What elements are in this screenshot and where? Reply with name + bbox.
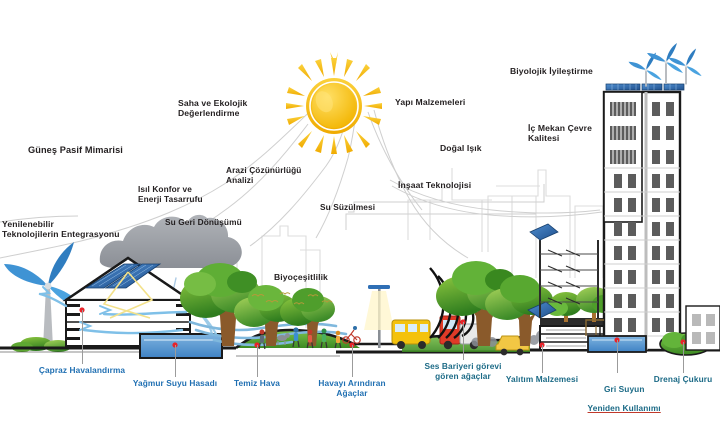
label-yagmur-suyu-hasadi: Yağmur Suyu Hasadı xyxy=(133,379,217,389)
small-houses xyxy=(686,306,720,350)
label-su-suzulmesi: Su Süzülmesi xyxy=(320,203,375,213)
label-gri-suyun-yeniden-kullanimi: Gri Suyun Yeniden Kullanımı xyxy=(573,375,660,424)
street-lamp-icon xyxy=(364,285,394,348)
label-yapi-malzemeleri: Yapı Malzemeleri xyxy=(395,97,465,107)
label-gri-suyun-line1: Gri Suyun xyxy=(604,384,645,394)
tower-roof-solar-panels xyxy=(606,84,684,90)
label-dogal-isik: Doğal Işık xyxy=(440,143,482,153)
label-saha-ve-ekolojik-degerlendirme: Saha ve Ekolojik Değerlendirme xyxy=(178,98,247,118)
label-su-geri-donusumu: Su Geri Dönüşümü xyxy=(165,218,242,228)
leader-line-drenaj-cukuru xyxy=(683,342,684,373)
label-temiz-hava: Temiz Hava xyxy=(234,379,280,389)
leader-line-gri-suyun-yeniden-kullanimi xyxy=(617,340,618,373)
apartment-tower xyxy=(604,43,702,350)
label-yenilenebilir-teknolojilerin-entegrasyonu: Yenilenebilir Teknolojilerin Entegrasyon… xyxy=(2,219,120,239)
label-arazi-cozunurlugu-analizi: Arazi Çözünürlüğü Analizi xyxy=(226,166,301,186)
label-insaat-teknolojisi: İnşaat Teknolojisi xyxy=(398,180,471,190)
rainwater-basin xyxy=(140,334,222,358)
label-gunes-pasif-mimarisi: Güneş Pasif Mimarisi xyxy=(28,145,123,156)
label-gri-suyun-line2: Yeniden Kullanımı xyxy=(588,403,661,413)
label-drenaj-cukuru: Drenaj Çukuru xyxy=(654,375,712,385)
leader-line-capraz-havalandirma xyxy=(82,310,83,364)
infographic-canvas: Güneş Pasif Mimarisi Yenilenebilir Tekno… xyxy=(0,0,720,427)
label-ses-bariyeri-gorevi-goren-agaclar: Ses Bariyeri görevi gören ağaçlar xyxy=(424,362,501,382)
label-yalitim-malzemesi: Yalıtım Malzemesi xyxy=(506,375,578,385)
sun-icon xyxy=(286,52,382,154)
leader-line-havayi-arindiran-agaclar xyxy=(352,345,353,377)
scene-illustration xyxy=(0,0,720,427)
roof-wind-turbines xyxy=(629,43,702,87)
leader-line-yagmur-suyu-hasadi xyxy=(175,345,176,377)
label-havayi-arindiran-agaclar: Havayı Arındıran Ağaçlar xyxy=(318,379,385,399)
label-capraz-havalandirma: Çapraz Havalandırma xyxy=(39,366,125,376)
label-biyolojik-iyilestirme: Biyolojik İyileştirme xyxy=(510,66,593,76)
label-biyocesitlilik: Biyoçeşitlilik xyxy=(274,272,328,282)
label-ic-mekan-cevre-kalitesi: İç Mekan Çevre Kalitesi xyxy=(528,123,592,143)
label-isil-konfor-ve-enerji-tasarrufu: Isıl Konfor ve Enerji Tasarrufu xyxy=(138,185,203,205)
leader-line-yalitim-malzemesi xyxy=(542,345,543,373)
leader-line-temiz-hava xyxy=(257,345,258,377)
leader-line-ses-bariyeri xyxy=(463,322,464,360)
